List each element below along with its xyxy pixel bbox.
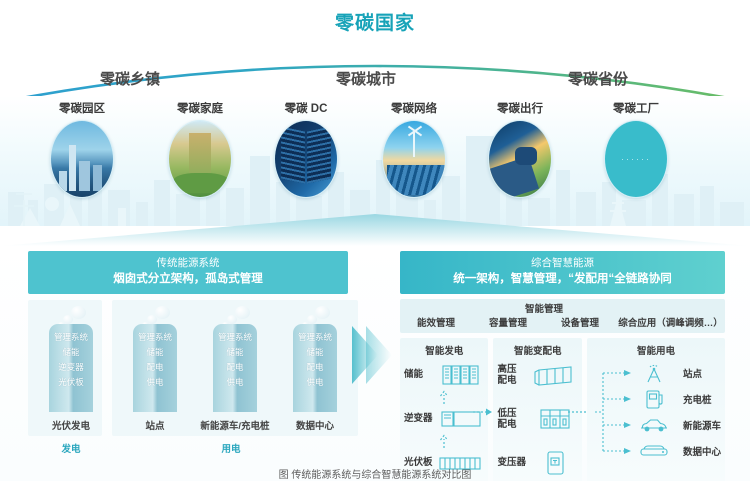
node-label: 零碳家庭	[152, 100, 248, 116]
generation-group: 管理系统 储能 逆变器 光伏板 光伏发电	[28, 300, 102, 436]
left-footer-consumption: 用电	[114, 441, 348, 455]
management-bar: 智能管理 能效管理 容量管理 设备管理 综合应用（调峰调频…）	[400, 299, 725, 333]
stack-caption: 数据中心	[278, 418, 352, 432]
arrow-gen-to-dist-icon	[473, 404, 495, 422]
stack-layer: 逆变器	[49, 360, 93, 375]
branch-connector-icon	[593, 364, 637, 460]
stack-layer: 光伏板	[49, 375, 93, 390]
left-footer-generation: 发电	[28, 441, 114, 455]
node-label: 零碳园区	[34, 100, 130, 116]
stack-layer: 供电	[133, 375, 177, 390]
chimney-icon: 管理系统 储能 逆变器 光伏板	[49, 324, 93, 412]
stack-layer: 储能	[133, 345, 177, 360]
ev-charger-icon	[637, 388, 671, 410]
row-hv[interactable]: 高压 配电	[497, 360, 577, 390]
green-building-photo-icon	[168, 120, 232, 198]
tier2-label-town: 零碳乡镇	[100, 68, 160, 89]
tier2-label-city: 零碳城市	[336, 68, 396, 89]
stack-ev[interactable]: 管理系统 储能 配电 供电 新能源车/充电桩	[198, 308, 272, 432]
row-label: 低压 配电	[497, 408, 531, 430]
comparison-section: 传统能源系统 烟囱式分立架构，孤岛式管理 管理系统 储能 逆变器	[0, 246, 750, 481]
chimney-icon: 管理系统 储能 配电 供电	[213, 324, 257, 412]
transition-arrow-up	[0, 212, 750, 246]
stack-layer: 管理系统	[293, 330, 337, 345]
row-label: 数据中心	[683, 444, 721, 458]
stack-layer: 供电	[213, 375, 257, 390]
hv-switchgear-icon	[531, 363, 577, 387]
data-center-photo-icon	[274, 120, 338, 198]
stack-layer: 储能	[213, 345, 257, 360]
stack-layer: 储能	[49, 345, 93, 360]
stack-layer: 管理系统	[133, 330, 177, 345]
stack-caption: 站点	[118, 418, 192, 432]
transition-chevron-icon	[352, 324, 394, 391]
traditional-energy-panel: 传统能源系统 烟囱式分立架构，孤岛式管理 管理系统 储能 逆变器	[28, 251, 348, 455]
column-title: 智能发电	[404, 343, 484, 357]
column-title: 智能用电	[591, 343, 721, 357]
stack-caption: 新能源车/充电桩	[198, 418, 272, 432]
smart-header-line1: 综合智慧能源	[404, 256, 721, 271]
page-title: 零碳国家	[0, 8, 750, 35]
stack-layer: 储能	[293, 345, 337, 360]
node-label: 零碳 DC	[258, 100, 354, 116]
stack-layer: 管理系统	[213, 330, 257, 345]
tier2-labels: 零碳乡镇 零碳城市 零碳省份	[0, 68, 750, 90]
stack-layer: 配电	[293, 360, 337, 375]
column-title: 智能变配电	[497, 343, 577, 357]
node-network[interactable]: 零碳网络	[366, 100, 462, 198]
arrow-up-storage-icon	[404, 390, 484, 404]
row-label: 新能源车	[683, 418, 721, 432]
node-factory[interactable]: 零碳工厂 ······	[588, 100, 684, 198]
factory-placeholder-icon: ······	[604, 120, 668, 198]
node-mobility[interactable]: 零碳出行	[472, 100, 568, 198]
node-label: 零碳工厂	[588, 100, 684, 116]
city-skyline-photo-icon	[50, 120, 114, 198]
consumption-list: 站点	[591, 360, 721, 464]
battery-rack-icon	[438, 363, 484, 387]
smart-distribution-column: 智能变配电 高压 配电	[493, 338, 581, 481]
smart-panel-header: 综合智慧能源 统一架构，智慧管理，“发配用“全链路协同	[400, 251, 725, 294]
mgmt-item-device[interactable]: 设备管理	[544, 315, 616, 329]
zero-carbon-node-row: 零碳园区 零碳家庭 零碳 DC	[0, 100, 750, 205]
row-label: 储能	[404, 369, 438, 380]
row-label: 站点	[683, 366, 702, 380]
stack-layer: 管理系统	[49, 330, 93, 345]
row-site[interactable]: 站点	[637, 360, 721, 386]
mgmt-item-capacity[interactable]: 容量管理	[472, 315, 544, 329]
row-ev[interactable]: 新能源车	[637, 412, 721, 438]
slide-root: 零碳国家 零碳乡镇 零碳城市 零碳省份	[0, 0, 750, 481]
mgmt-item-apps[interactable]: 综合应用（调峰调频…）	[616, 315, 725, 329]
stack-pv[interactable]: 管理系统 储能 逆变器 光伏板 光伏发电	[34, 308, 108, 432]
arrow-up-inverter-icon	[404, 434, 484, 448]
smart-consumption-column: 智能用电	[587, 338, 725, 481]
stack-layer: 配电	[213, 360, 257, 375]
node-park[interactable]: 零碳园区	[34, 100, 130, 198]
row-charger[interactable]: 充电桩	[637, 386, 721, 412]
traditional-header-line2: 烟囱式分立架构，孤岛式管理	[32, 271, 344, 288]
server-icon	[637, 443, 671, 459]
chimney-icon: 管理系统 储能 配电 供电	[133, 324, 177, 412]
row-label: 充电桩	[683, 392, 712, 406]
row-label: 高压 配电	[497, 364, 531, 386]
figure-caption: 图 传统能源系统与综合智慧能源系统对比图	[0, 466, 750, 481]
solar-wind-photo-icon	[382, 120, 446, 198]
consumption-group: 管理系统 储能 配电 供电 站点	[112, 300, 358, 436]
chimney-icon: 管理系统 储能 配电 供电	[293, 324, 337, 412]
traditional-header-line1: 传统能源系统	[32, 256, 344, 271]
node-dc[interactable]: 零碳 DC	[258, 100, 354, 198]
smart-header-line2: 统一架构，智慧管理，“发配用“全链路协同	[404, 271, 721, 288]
mgmt-item-efficiency[interactable]: 能效管理	[400, 315, 472, 329]
management-title: 智能管理	[525, 301, 563, 315]
row-datacenter[interactable]: 数据中心	[637, 438, 721, 464]
row-inverter[interactable]: 逆变器	[404, 404, 484, 434]
stack-site[interactable]: 管理系统 储能 配电 供电 站点	[118, 308, 192, 432]
traditional-panel-header: 传统能源系统 烟囱式分立架构，孤岛式管理	[28, 251, 348, 294]
stack-dc[interactable]: 管理系统 储能 配电 供电 数据中心	[278, 308, 352, 432]
node-label: 零碳网络	[366, 100, 462, 116]
row-label: 逆变器	[404, 413, 438, 424]
node-home[interactable]: 零碳家庭	[152, 100, 248, 198]
smart-generation-column: 智能发电 储能	[400, 338, 488, 481]
stack-layer: 供电	[293, 375, 337, 390]
smart-energy-panel: 综合智慧能源 统一架构，智慧管理，“发配用“全链路协同 智能管理 能效管理 容量…	[400, 251, 725, 481]
highway-car-photo-icon	[488, 120, 552, 198]
node-label: 零碳出行	[472, 100, 568, 116]
cell-tower-icon	[637, 362, 671, 384]
stack-caption: 光伏发电	[34, 418, 108, 432]
tier2-label-province: 零碳省份	[568, 68, 628, 89]
stack-layer: 配电	[133, 360, 177, 375]
row-lv[interactable]: 低压 配电	[497, 404, 577, 434]
row-storage[interactable]: 储能	[404, 360, 484, 390]
ev-car-icon	[637, 416, 671, 434]
placeholder-dots: ······	[605, 154, 667, 164]
